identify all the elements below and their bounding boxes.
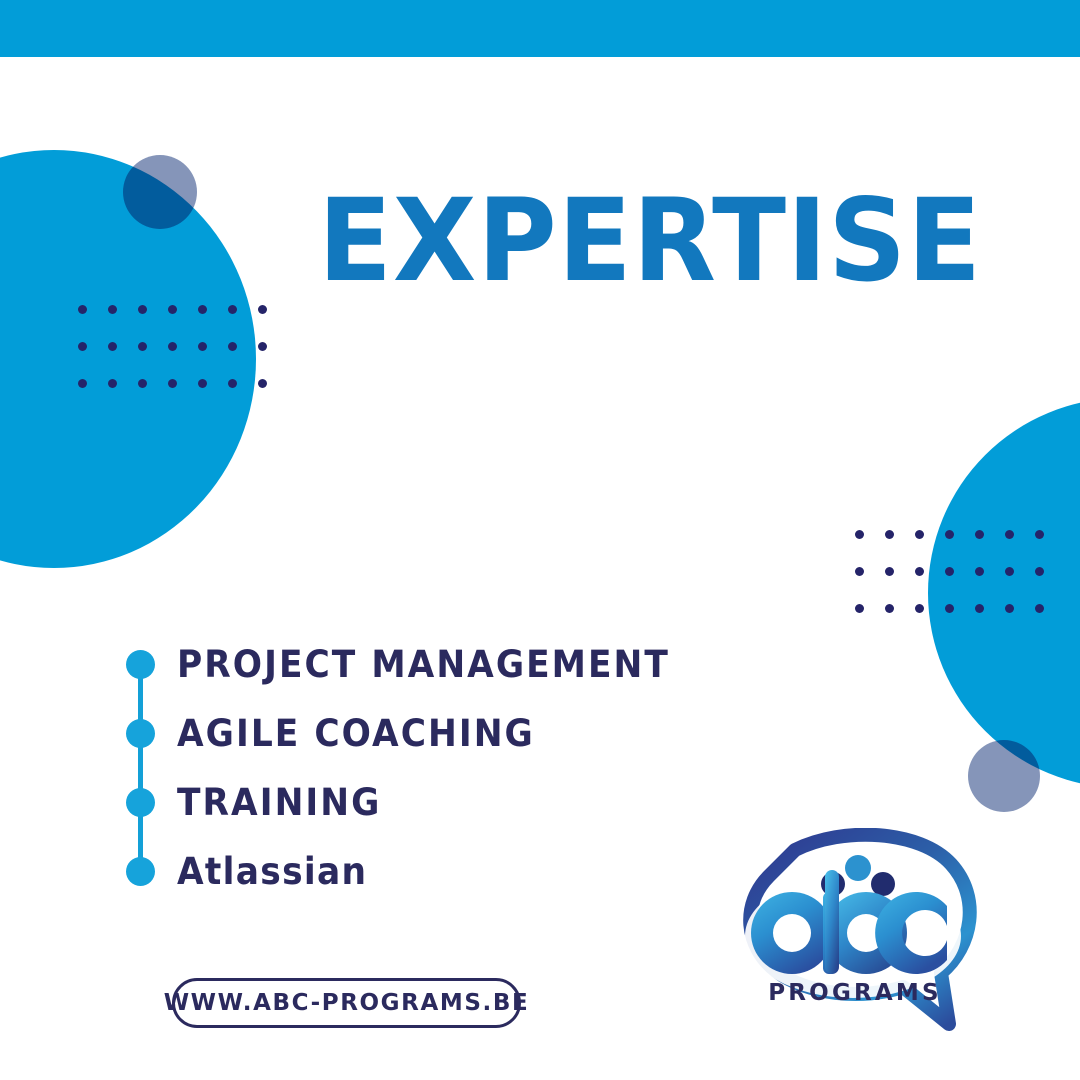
decorative-dot bbox=[945, 604, 954, 613]
decorative-dot bbox=[198, 305, 207, 314]
list-item-label: Atlassian bbox=[177, 850, 367, 893]
decorative-dot bbox=[168, 305, 177, 314]
list-item[interactable]: PROJECT MANAGEMENT bbox=[126, 630, 746, 699]
list-item[interactable]: AGILE COACHING bbox=[126, 699, 746, 768]
decorative-dot bbox=[228, 305, 237, 314]
decorative-dot bbox=[258, 379, 267, 388]
decorative-dot bbox=[258, 305, 267, 314]
bullet-dot-icon bbox=[126, 857, 155, 886]
decorative-dot bbox=[1005, 604, 1014, 613]
website-badge[interactable]: WWW.ABC-PROGRAMS.BE bbox=[172, 978, 521, 1028]
decorative-dot bbox=[975, 604, 984, 613]
decorative-dot bbox=[228, 342, 237, 351]
decorative-dot bbox=[168, 342, 177, 351]
decorative-dot bbox=[258, 342, 267, 351]
decorative-dot bbox=[855, 604, 864, 613]
decorative-dot bbox=[945, 567, 954, 576]
decorative-dot bbox=[885, 604, 894, 613]
logo-tagline: PROGRAMS bbox=[768, 980, 942, 1006]
decorative-dot bbox=[1035, 604, 1044, 613]
decorative-dot bbox=[975, 530, 984, 539]
decorative-dot bbox=[945, 530, 954, 539]
decorative-dot bbox=[108, 379, 117, 388]
list-item-label: AGILE COACHING bbox=[177, 712, 535, 755]
decorative-dot bbox=[885, 567, 894, 576]
decorative-dot bbox=[78, 342, 87, 351]
decorative-dot bbox=[78, 379, 87, 388]
decorative-dot bbox=[1035, 567, 1044, 576]
decorative-dot bbox=[915, 604, 924, 613]
decorative-dot bbox=[975, 567, 984, 576]
decorative-circle-left-gray bbox=[123, 155, 197, 229]
decorative-dot bbox=[108, 305, 117, 314]
decorative-dot bbox=[1005, 530, 1014, 539]
list-item[interactable]: Atlassian bbox=[126, 837, 746, 906]
dot-grid-left bbox=[78, 305, 288, 416]
page-title: EXPERTISE bbox=[318, 186, 982, 296]
expertise-poster: EXPERTISE PROJECT MANAGEMENT AGILE COACH… bbox=[0, 0, 1080, 1080]
decorative-dot bbox=[78, 305, 87, 314]
decorative-dot bbox=[915, 530, 924, 539]
website-url-text: WWW.ABC-PROGRAMS.BE bbox=[164, 990, 530, 1016]
decorative-dot bbox=[885, 530, 894, 539]
list-item[interactable]: TRAINING bbox=[126, 768, 746, 837]
decorative-dot bbox=[198, 342, 207, 351]
bullet-dot-icon bbox=[126, 719, 155, 748]
decorative-dot bbox=[168, 379, 177, 388]
bullet-dot-icon bbox=[126, 788, 155, 817]
decorative-dot bbox=[1005, 567, 1014, 576]
decorative-circle-right-gray bbox=[968, 740, 1040, 812]
list-item-label: TRAINING bbox=[177, 781, 381, 824]
decorative-dot bbox=[1035, 530, 1044, 539]
decorative-dot bbox=[855, 567, 864, 576]
decorative-dot bbox=[915, 567, 924, 576]
decorative-dot bbox=[108, 342, 117, 351]
bullet-dot-icon bbox=[126, 650, 155, 679]
dot-grid-right bbox=[855, 530, 1065, 641]
top-accent-bar bbox=[0, 0, 1080, 57]
decorative-dot bbox=[855, 530, 864, 539]
abc-programs-logo[interactable]: PROGRAMS bbox=[735, 828, 985, 1043]
expertise-list: PROJECT MANAGEMENT AGILE COACHING TRAINI… bbox=[126, 630, 746, 906]
decorative-dot bbox=[198, 379, 207, 388]
decorative-dot bbox=[138, 342, 147, 351]
decorative-dot bbox=[138, 379, 147, 388]
list-item-label: PROJECT MANAGEMENT bbox=[177, 643, 670, 686]
decorative-dot bbox=[138, 305, 147, 314]
decorative-dot bbox=[228, 379, 237, 388]
